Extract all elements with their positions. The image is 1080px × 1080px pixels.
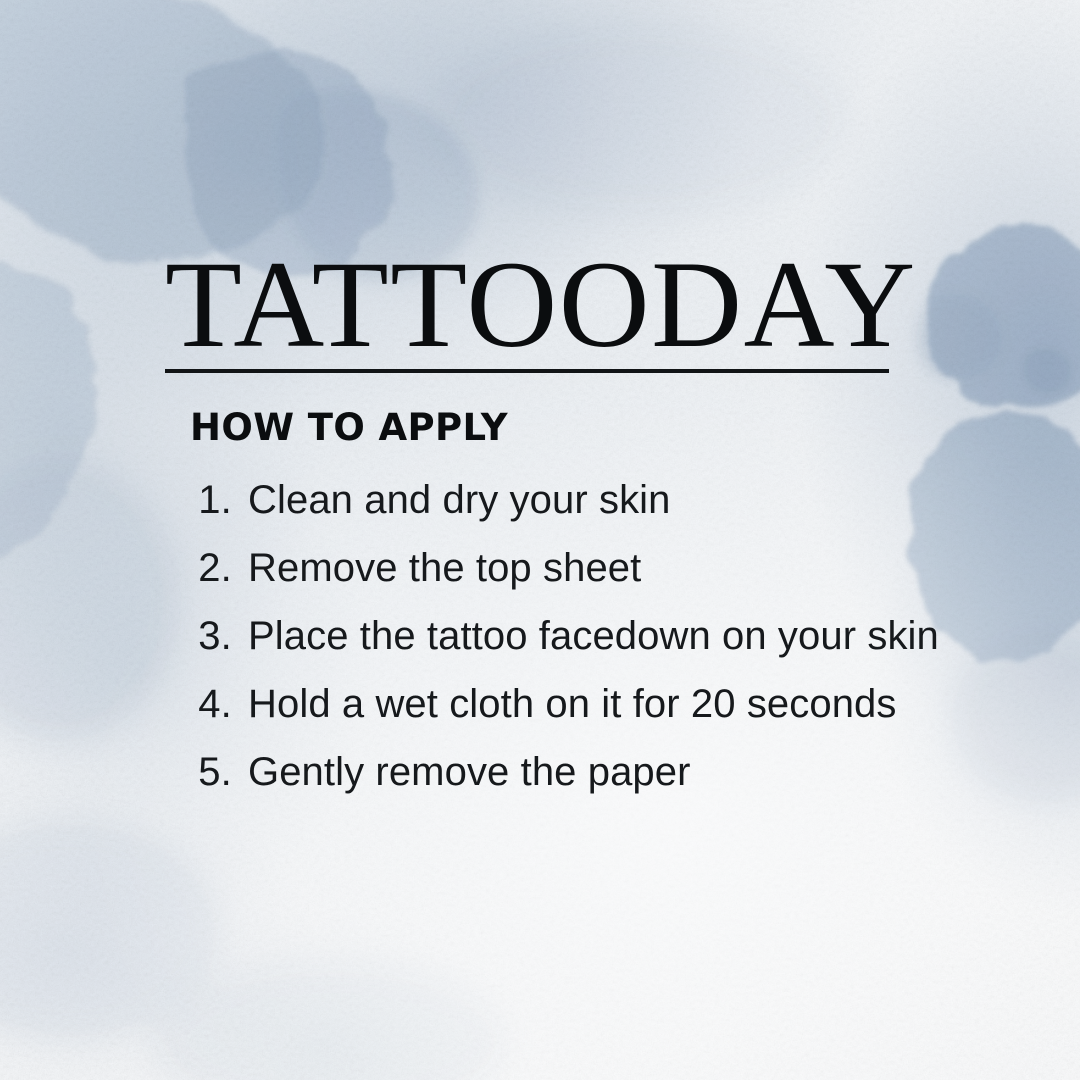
title-divider-rule: [165, 369, 889, 373]
list-item: 5. Gently remove the paper: [186, 738, 939, 806]
step-number: 3.: [186, 602, 232, 670]
step-text: Clean and dry your skin: [248, 466, 671, 534]
step-text: Place the tattoo facedown on your skin: [248, 602, 939, 670]
brand-title: TATTOODAY: [165, 243, 902, 367]
section-heading-how-to-apply: HOW TO APPLY: [190, 409, 508, 446]
list-item: 4. Hold a wet cloth on it for 20 seconds: [186, 670, 939, 738]
step-number: 4.: [186, 670, 232, 738]
list-item: 1. Clean and dry your skin: [186, 466, 939, 534]
card-content: TATTOODAY HOW TO APPLY 1. Clean and dry …: [0, 0, 1080, 1080]
step-number: 2.: [186, 534, 232, 602]
step-text: Gently remove the paper: [248, 738, 691, 806]
instruction-card: TATTOODAY HOW TO APPLY 1. Clean and dry …: [0, 0, 1080, 1080]
step-number: 5.: [186, 738, 232, 806]
step-text: Hold a wet cloth on it for 20 seconds: [248, 670, 897, 738]
step-number: 1.: [186, 466, 232, 534]
list-item: 3. Place the tattoo facedown on your ski…: [186, 602, 939, 670]
step-text: Remove the top sheet: [248, 534, 641, 602]
list-item: 2. Remove the top sheet: [186, 534, 939, 602]
apply-steps-list: 1. Clean and dry your skin 2. Remove the…: [186, 466, 939, 806]
